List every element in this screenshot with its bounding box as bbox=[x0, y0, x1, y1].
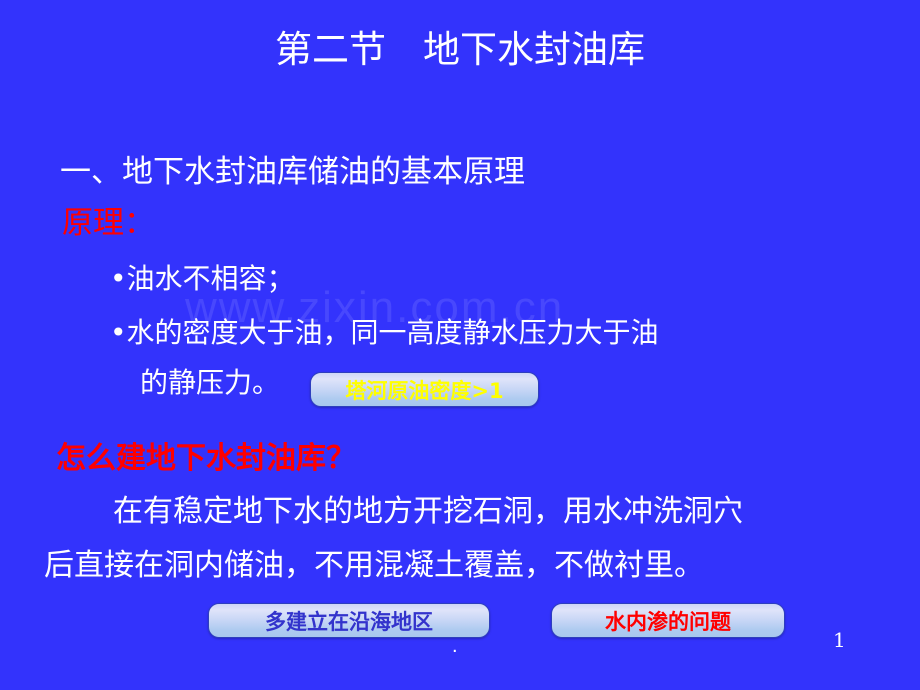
slide-title: 第二节 地下水封油库 bbox=[0, 28, 920, 72]
bullet-continuation-text: 的静压力。 bbox=[140, 365, 280, 401]
page-number: 1 bbox=[833, 628, 846, 652]
bullet-item-oil-water-immiscible: •油水不相容； bbox=[110, 261, 295, 297]
bullet-item-water-density: •水的密度大于油，同一高度静水压力大于油 bbox=[110, 315, 659, 351]
principle-label: 原理： bbox=[62, 204, 155, 242]
callout-coastal-box: 多建立在沿海地区 bbox=[208, 603, 490, 638]
presentation-slide: www.zixin.com.cn 第二节 地下水封油库 一、地下水封油库储油的基… bbox=[0, 0, 920, 690]
callout-seepage-box: 水内渗的问题 bbox=[551, 603, 785, 638]
body-paragraph-line-2: 后直接在洞内储油，不用混凝土覆盖，不做衬里。 bbox=[44, 546, 704, 586]
footer-dot-mark: . bbox=[452, 636, 458, 656]
callout-density-box: 塔河原油密度>1 bbox=[310, 372, 539, 407]
question-heading: 怎么建地下水封油库？ bbox=[56, 440, 356, 478]
body-paragraph-line-1: 在有稳定地下水的地方开挖石洞，用水冲洗洞穴 bbox=[113, 492, 743, 532]
section-heading: 一、地下水封油库储油的基本原理 bbox=[60, 153, 525, 191]
